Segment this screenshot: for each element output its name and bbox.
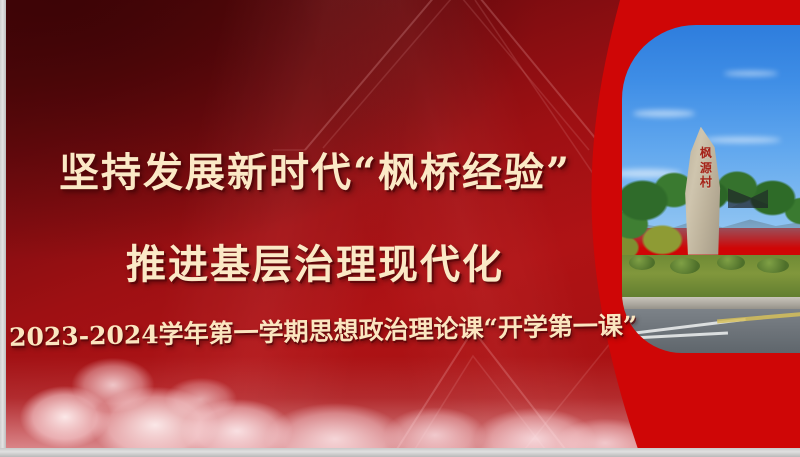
monument-char-2: 源 [688, 161, 724, 175]
monument-inscription: 枫 源 村 [688, 146, 724, 188]
cloud-wisp-icon [703, 137, 781, 143]
metal-sculpture [728, 182, 768, 208]
frame-bezel-bottom [0, 448, 800, 457]
village-monument-photo: 枫 源 村 [622, 25, 800, 353]
shrub [717, 255, 745, 270]
shrub [670, 258, 700, 274]
shrub [757, 258, 789, 273]
shrub [629, 255, 655, 270]
photo-image: 枫 源 村 [622, 25, 800, 353]
slide-artwork-stage: 枫 源 村 坚持发展新时代“枫桥经验” 推进基层治理现代化 2023-2024学… [5, 0, 800, 449]
road-centre-line [717, 310, 800, 323]
road-marking [633, 332, 728, 340]
cloud-wisp-icon [724, 71, 778, 76]
presentation-slide: 枫 源 村 坚持发展新时代“枫桥经验” 推进基层治理现代化 2023-2024学… [0, 0, 800, 457]
asphalt-road [622, 309, 800, 353]
frame-bezel-left [0, 0, 6, 457]
monument-char-1: 枫 [688, 146, 724, 160]
monument-char-3: 村 [688, 175, 724, 189]
